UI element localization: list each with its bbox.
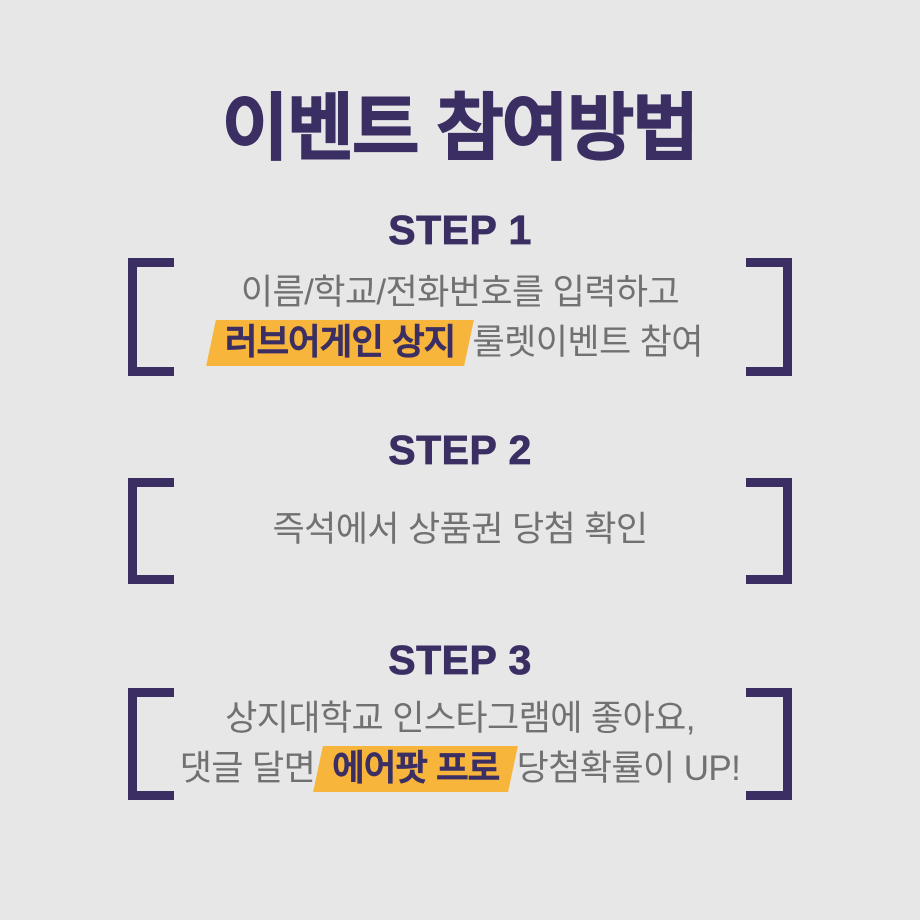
step-text-segment: 댓글 달면 (180, 749, 325, 788)
step-label-2: STEP 2 (0, 428, 920, 474)
step-text-segment: 당첨확률이 UP! (507, 749, 740, 788)
step-block-3: STEP 3 상지대학교 인스타그램에 좋아요, 댓글 달면 에어팟 프로 당첨… (0, 638, 920, 800)
highlight-text-brand: 러브어게인 상지 (219, 318, 461, 368)
step-body-2: 즉석에서 상품권 당첨 확인 (0, 478, 920, 582)
step-label-1: STEP 1 (0, 208, 920, 254)
step-lines-2: 즉석에서 상품권 당첨 확인 (0, 478, 920, 582)
step-line: 이름/학교/전화번호를 입력하고 (0, 268, 920, 318)
highlight-text-prize: 에어팟 프로 (326, 744, 505, 794)
step-line: 러브어게인 상지 룰렛이벤트 참여 (0, 318, 920, 368)
step-lines-1: 이름/학교/전화번호를 입력하고 러브어게인 상지 룰렛이벤트 참여 (0, 258, 920, 378)
step-text-segment: 상지대학교 인스타그램에 좋아요, (225, 699, 695, 738)
step-body-1: 이름/학교/전화번호를 입력하고 러브어게인 상지 룰렛이벤트 참여 (0, 258, 920, 378)
step-text-segment: 이름/학교/전화번호를 입력하고 (241, 273, 679, 312)
event-guide-poster: 이벤트 참여방법 STEP 1 이름/학교/전화번호를 입력하고 러브어게인 상… (0, 0, 920, 920)
step-body-3: 상지대학교 인스타그램에 좋아요, 댓글 달면 에어팟 프로 당첨확률이 UP! (0, 688, 920, 800)
step-line: 즉석에서 상품권 당첨 확인 (0, 505, 920, 555)
step-label-3: STEP 3 (0, 638, 920, 684)
step-line: 댓글 달면 에어팟 프로 당첨확률이 UP! (0, 744, 920, 794)
step-block-2: STEP 2 즉석에서 상품권 당첨 확인 (0, 428, 920, 582)
step-line: 상지대학교 인스타그램에 좋아요, (0, 694, 920, 744)
page-title: 이벤트 참여방법 (0, 92, 920, 168)
step-text-segment: 룰렛이벤트 참여 (463, 323, 702, 362)
step-block-1: STEP 1 이름/학교/전화번호를 입력하고 러브어게인 상지 룰렛이벤트 참… (0, 208, 920, 378)
step-text-segment: 즉석에서 상품권 당첨 확인 (273, 510, 648, 549)
step-lines-3: 상지대학교 인스타그램에 좋아요, 댓글 달면 에어팟 프로 당첨확률이 UP! (0, 688, 920, 800)
